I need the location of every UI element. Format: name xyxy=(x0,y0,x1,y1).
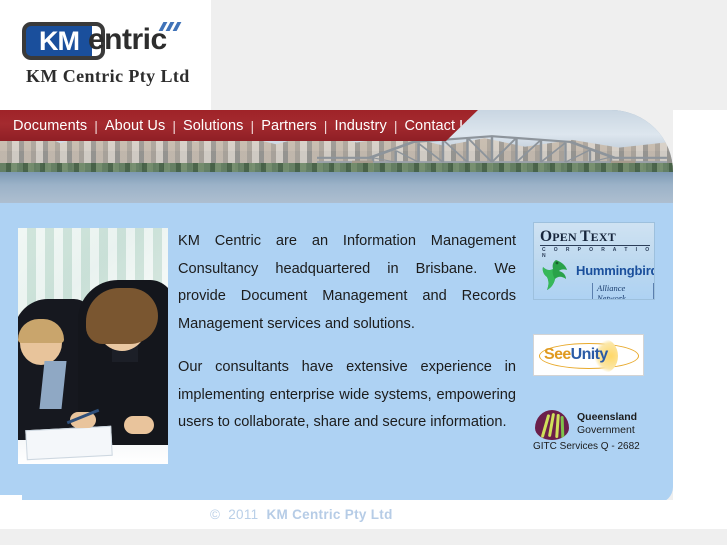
nav-items: Documents | About Us | Solutions | Partn… xyxy=(0,118,483,134)
logo-km-text: KM xyxy=(26,24,92,58)
opentext-pen: PEN xyxy=(552,230,580,244)
copyright-year: 2011 xyxy=(228,507,258,522)
nav-item-partners[interactable]: Partners xyxy=(255,118,323,134)
consultants-photo xyxy=(18,228,168,464)
queensland-line1: Queensland xyxy=(577,411,637,424)
hummingbird-wordmark: Hummingbird® xyxy=(576,263,655,278)
nav-item-solutions[interactable]: Solutions xyxy=(177,118,250,134)
photo-hand-right xyxy=(124,416,154,434)
queensland-wordmark: Queensland Government xyxy=(577,411,637,436)
logo-mark: KM entric xyxy=(22,21,198,61)
intro-paragraph-2: Our consultants have extensive experienc… xyxy=(178,354,516,437)
logo-band: KM entric KM Centric Pty Ltd xyxy=(0,0,211,110)
content-right-fill xyxy=(673,203,727,503)
hero-right-fill xyxy=(673,110,727,204)
hummingbird-icon xyxy=(540,256,572,292)
logo-entric-text: entric xyxy=(88,23,167,57)
photo-notebook xyxy=(25,426,112,460)
queensland-government-logo[interactable]: Queensland Government GITC Services Q - … xyxy=(533,410,657,456)
opentext-ext: EXT xyxy=(591,230,616,244)
photo-man-hair xyxy=(18,319,64,343)
hero-river-water xyxy=(0,172,673,204)
copyright-text: ©2011KM Centric Pty Ltd xyxy=(210,507,393,522)
opentext-hummingbird-logo[interactable]: OPEN TEXT C O R P O R A T I O N Hummingb… xyxy=(533,222,655,300)
opentext-t: T xyxy=(580,228,591,245)
opentext-o: O xyxy=(540,228,552,245)
footer-notch xyxy=(0,495,22,505)
page-root: KM entric KM Centric Pty Ltd xyxy=(0,0,727,545)
intro-text-block: KM Centric are an Information Management… xyxy=(178,228,516,437)
seeunity-logo[interactable]: SeeUnity xyxy=(533,334,644,376)
main-navigation[interactable]: Documents | About Us | Solutions | Partn… xyxy=(0,110,520,141)
seeunity-wordmark: SeeUnity xyxy=(544,346,608,364)
copyright-company: KM Centric Pty Ltd xyxy=(266,507,392,522)
intro-paragraph-1: KM Centric are an Information Management… xyxy=(178,228,516,338)
hummingbird-alliance-network-label: Alliance Network xyxy=(592,283,654,300)
page-bottom-margin xyxy=(0,529,727,545)
photo-woman-hair xyxy=(86,288,158,344)
opentext-rule xyxy=(540,245,650,246)
logo-speed-dashes-icon xyxy=(161,22,187,31)
seeunity-unity: Unity xyxy=(571,346,608,363)
nav-item-about-us[interactable]: About Us xyxy=(99,118,171,134)
opentext-wordmark: OPEN TEXT xyxy=(540,228,616,246)
partner-logos: OPEN TEXT C O R P O R A T I O N Hummingb… xyxy=(533,222,659,456)
logo-tagline: KM Centric Pty Ltd xyxy=(26,66,190,87)
photo-man-shirt xyxy=(39,361,66,409)
site-logo[interactable]: KM entric KM Centric Pty Ltd xyxy=(22,21,202,91)
copyright-symbol: © xyxy=(210,507,220,522)
seeunity-see: See xyxy=(544,346,571,363)
queensland-coat-icon xyxy=(535,410,569,440)
header-background xyxy=(211,0,727,110)
nav-item-industry[interactable]: Industry xyxy=(328,118,392,134)
nav-item-documents[interactable]: Documents xyxy=(7,118,93,134)
queensland-line2: Government xyxy=(577,424,637,437)
gitc-services-label: GITC Services Q - 2682 xyxy=(533,441,640,452)
